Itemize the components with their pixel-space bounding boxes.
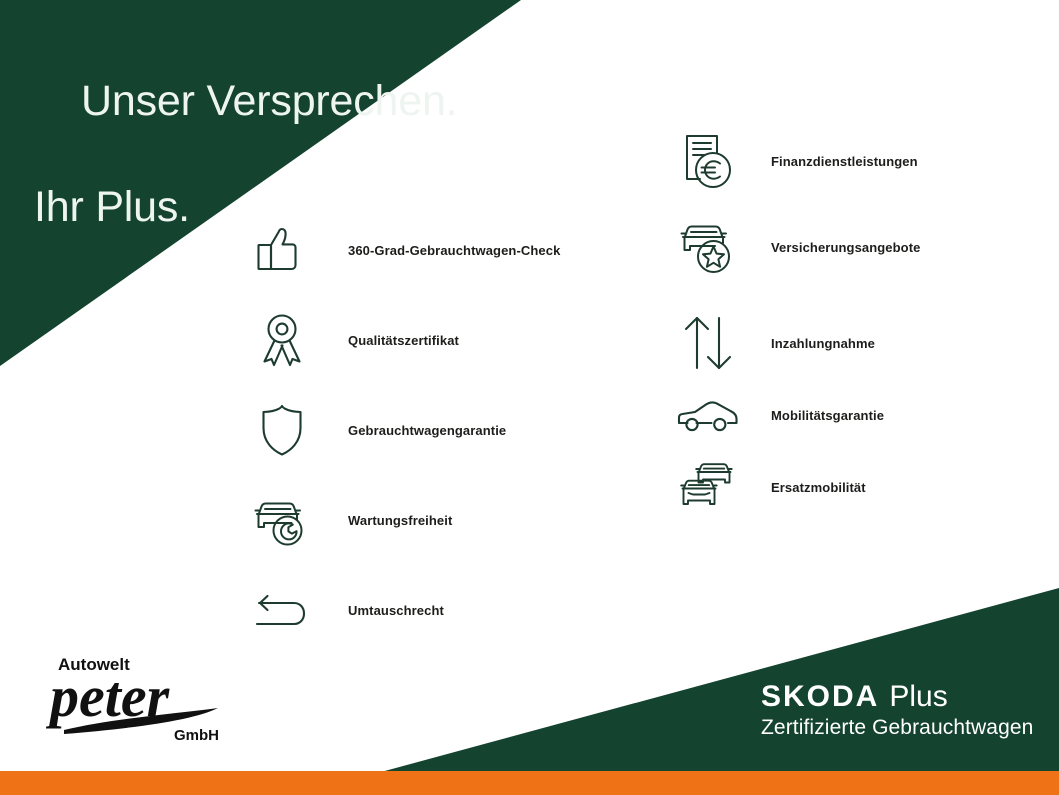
thumbs-up-icon <box>246 214 318 286</box>
skoda-plus-word: Plus <box>889 681 947 713</box>
car-wrench-icon <box>246 484 318 556</box>
feature-label: Qualitätszertifikat <box>348 333 459 348</box>
feature-label: Versicherungsangebote <box>771 240 920 255</box>
feature-list-left: 360-Grad-Gebrauchtwagen-Check Qualitätsz… <box>246 214 560 664</box>
feature-item-financial-services: Finanzdienstleistungen <box>672 125 920 197</box>
rosette-certificate-icon <box>246 304 318 376</box>
feature-label: Ersatzmobilität <box>771 480 866 495</box>
skoda-plus-logo: SKODA Plus Zertifizierte Gebrauchtwagen <box>761 681 1033 740</box>
return-arrow-icon <box>246 574 318 646</box>
promo-banner: Unser Versprechen. Ihr Plus. 360-Grad-Ge… <box>0 0 1059 795</box>
feature-label: Gebrauchtwagengarantie <box>348 423 506 438</box>
sedan-car-icon <box>672 379 744 451</box>
feature-label: Wartungsfreiheit <box>348 513 452 528</box>
two-cars-icon <box>672 451 744 523</box>
feature-item-mobility-guarantee: Mobilitätsgarantie <box>672 379 920 451</box>
feature-label: Umtauschrecht <box>348 603 444 618</box>
feature-item-replacement-mobility: Ersatzmobilität <box>672 451 920 523</box>
feature-label: Finanzdienstleistungen <box>771 154 918 169</box>
feature-item-insurance-offers: Versicherungsangebote <box>672 211 920 283</box>
skoda-brand-line: SKODA Plus <box>761 681 1033 713</box>
feature-item-quality-certificate: Qualitätszertifikat <box>246 304 560 376</box>
feature-label: 360-Grad-Gebrauchtwagen-Check <box>348 243 560 258</box>
headline-line-1: Unser Versprechen. <box>81 77 457 125</box>
feature-item-maintenance-free: Wartungsfreiheit <box>246 484 560 556</box>
feature-item-return-right: Umtauschrecht <box>246 574 560 646</box>
document-euro-icon <box>672 125 744 197</box>
feature-label: Mobilitätsgarantie <box>771 408 884 423</box>
feature-item-trade-in: Inzahlungnahme <box>672 307 920 379</box>
feature-item-warranty: Gebrauchtwagengarantie <box>246 394 560 466</box>
car-star-icon <box>672 211 744 283</box>
feature-label: Inzahlungnahme <box>771 336 875 351</box>
skoda-wordmark: SKODA <box>761 681 879 713</box>
up-down-arrows-icon <box>672 307 744 379</box>
skoda-subtitle: Zertifizierte Gebrauchtwagen <box>761 716 1033 740</box>
shield-icon <box>246 394 318 466</box>
feature-list-right: Finanzdienstleistungen Versicherungsange… <box>672 125 920 523</box>
dealer-logo: Autowelt peter GmbH <box>46 648 276 744</box>
dealer-logo-suffix-text: GmbH <box>174 727 219 744</box>
orange-bottom-bar <box>0 771 1059 795</box>
feature-item-360-check: 360-Grad-Gebrauchtwagen-Check <box>246 214 560 286</box>
